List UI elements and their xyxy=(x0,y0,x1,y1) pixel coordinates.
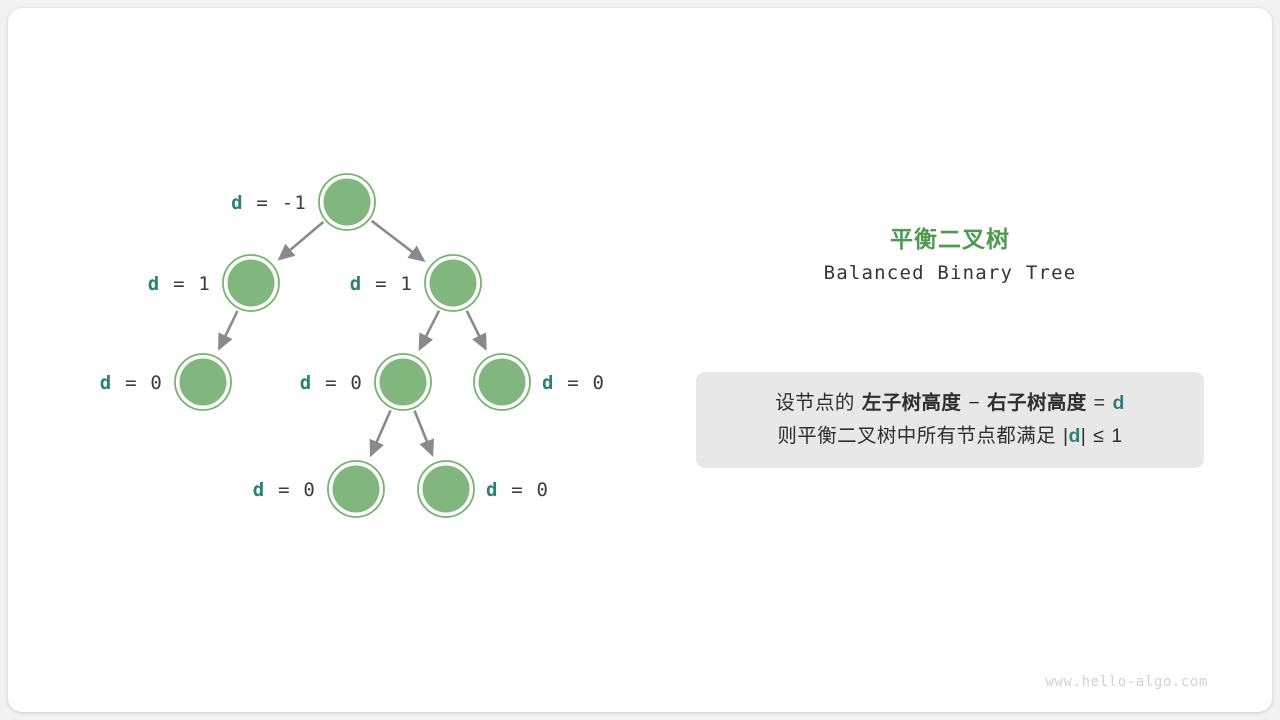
node-balance-label: d = 0 xyxy=(486,479,549,501)
definition-line-1: 设节点的左子树高度−右子树高度=d xyxy=(775,387,1125,420)
tree-edge xyxy=(420,311,439,349)
panel-title: 平衡二叉树 xyxy=(696,224,1204,254)
less-equal-operator: ≤ xyxy=(1093,425,1104,447)
tree-node xyxy=(479,359,526,406)
tree-node-labels: d = -1d = 1d = 1d = 0d = 0d = 0d = 0d = … xyxy=(100,192,605,501)
tree-edge xyxy=(372,221,424,261)
balance-factor-var-abs: d xyxy=(1068,425,1080,447)
tree-edge xyxy=(219,311,237,349)
tree-node xyxy=(180,359,227,406)
abs-bar-close: | xyxy=(1081,425,1086,447)
node-balance-label: d = -1 xyxy=(231,192,307,214)
tree-node xyxy=(380,359,427,406)
tree-node xyxy=(333,466,380,513)
node-balance-label: d = 1 xyxy=(350,273,413,295)
legend-panel: 平衡二叉树 Balanced Binary Tree xyxy=(696,224,1204,284)
equals-operator: = xyxy=(1094,392,1106,414)
tree-edge xyxy=(415,411,433,455)
panel-subtitle: Balanced Binary Tree xyxy=(696,262,1204,284)
tree-edge xyxy=(279,222,323,259)
tree-nodes xyxy=(175,174,530,517)
diagram-canvas: d = -1d = 1d = 1d = 0d = 0d = 0d = 0d = … xyxy=(0,0,1280,720)
definition-line-2: 则平衡二叉树中所有节点都满足|d|≤1 xyxy=(777,420,1122,453)
node-balance-label: d = 0 xyxy=(253,479,316,501)
tree-node xyxy=(430,260,477,307)
balance-factor-var: d xyxy=(1112,392,1124,414)
condition-prefix: 则平衡二叉树中所有节点都满足 xyxy=(777,425,1056,447)
watermark: www.hello-algo.com xyxy=(1045,674,1208,690)
node-balance-label: d = 1 xyxy=(148,273,211,295)
right-subtree-height-term: 右子树高度 xyxy=(987,392,1087,414)
bound-value: 1 xyxy=(1111,425,1122,447)
node-balance-label: d = 0 xyxy=(300,372,363,394)
minus-operator: − xyxy=(968,392,980,414)
node-balance-label: d = 0 xyxy=(542,372,605,394)
node-balance-label: d = 0 xyxy=(100,372,163,394)
binary-tree-graphic: d = -1d = 1d = 1d = 0d = 0d = 0d = 0d = … xyxy=(0,0,1280,720)
definition-box: 设节点的左子树高度−右子树高度=d 则平衡二叉树中所有节点都满足|d|≤1 xyxy=(696,372,1204,468)
tree-edge xyxy=(371,410,391,455)
tree-node xyxy=(423,466,470,513)
tree-node xyxy=(228,260,275,307)
left-subtree-height-term: 左子树高度 xyxy=(862,392,962,414)
definition-prefix: 设节点的 xyxy=(775,392,855,414)
tree-node xyxy=(324,179,371,226)
tree-edge xyxy=(467,311,486,349)
